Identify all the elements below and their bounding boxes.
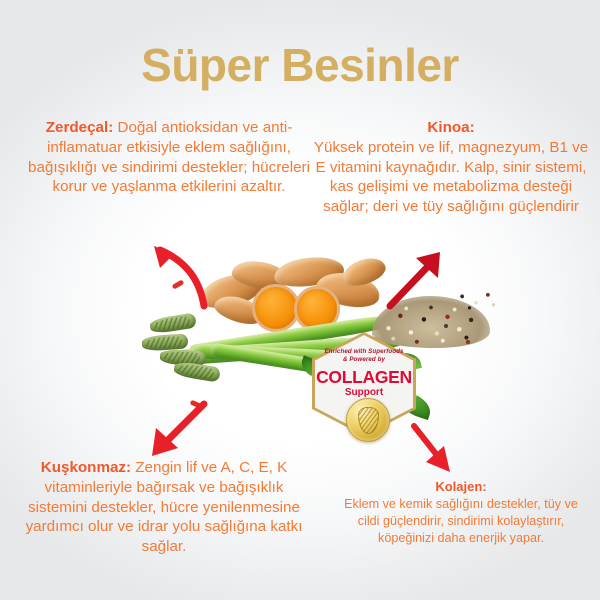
arrow-to-kuskonmaz bbox=[142, 398, 214, 460]
kolajen-label: Kolajen: bbox=[435, 479, 486, 494]
badge-text-group: Enriched with Superfoods & Powered by CO… bbox=[312, 348, 416, 398]
badge-tagline-line2: & Powered by bbox=[312, 356, 416, 364]
zerdecal-label: Zerdeçal: bbox=[46, 119, 114, 136]
badge-tagline-line1: Enriched with Superfoods bbox=[312, 348, 416, 356]
arrow-to-zerdecal bbox=[140, 242, 220, 312]
kuskonmaz-label: Kuşkonmaz: bbox=[41, 459, 131, 476]
kinoa-body: Yüksek protein ve lif, magnezyum, B1 ve … bbox=[314, 139, 588, 215]
medallion-emblem-icon bbox=[358, 407, 379, 434]
arrow-to-kinoa bbox=[382, 248, 452, 313]
badge-main-label: COLLAGEN bbox=[312, 369, 416, 387]
zerdecal-text-block: Zerdeçal: Doğal antioksidan ve anti-infl… bbox=[28, 118, 310, 197]
collagen-support-badge: Enriched with Superfoods & Powered by CO… bbox=[312, 332, 416, 436]
kolajen-body: Eklem ve kemik sağlığını destekler, tüy … bbox=[344, 497, 578, 545]
gold-medallion-icon bbox=[346, 398, 390, 442]
kolajen-text-block: Kolajen: Eklem ve kemik sağlığını destek… bbox=[332, 478, 590, 547]
page-title: Süper Besinler bbox=[0, 42, 600, 88]
superfoods-poster: Süper Besinler Enriched wi bbox=[0, 0, 600, 600]
seed-bit bbox=[466, 340, 470, 344]
kuskonmaz-text-block: Kuşkonmaz: Zengin lif ve A, C, E, K vita… bbox=[14, 458, 314, 557]
arrow-to-kolajen bbox=[404, 418, 466, 480]
kinoa-text-block: Kinoa: Yüksek protein ve lif, magnezyum,… bbox=[310, 118, 592, 217]
quinoa-spill-image bbox=[452, 286, 498, 312]
seed-bit bbox=[444, 324, 448, 328]
kinoa-label: Kinoa: bbox=[427, 119, 474, 136]
badge-sub-label: Support bbox=[312, 388, 416, 398]
